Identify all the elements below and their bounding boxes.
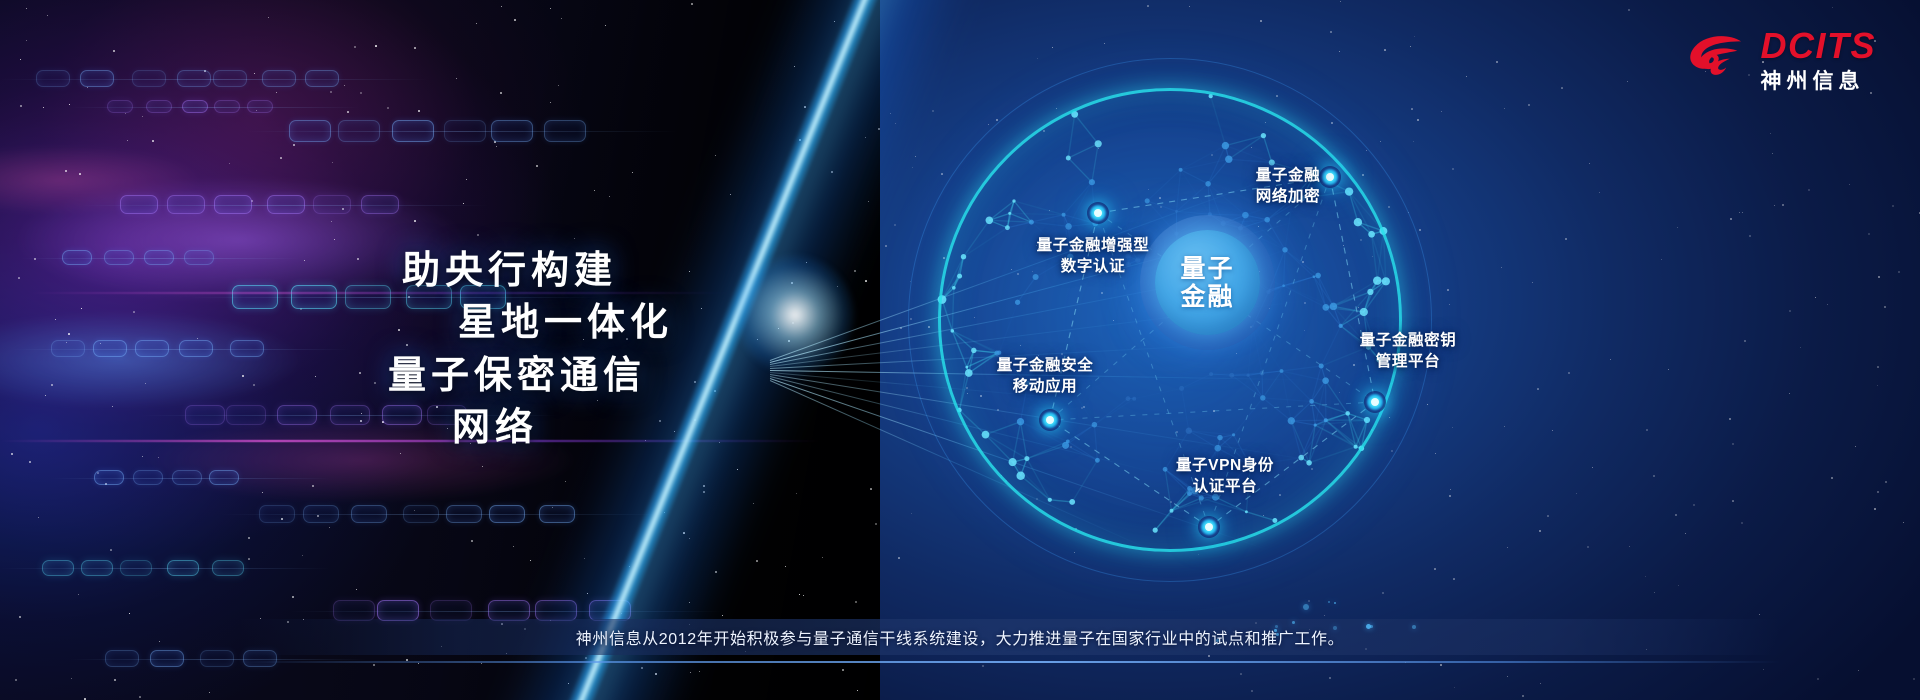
node-digital-cert[interactable] — [1087, 202, 1109, 224]
headline-line-3: 量子保密通信 — [330, 350, 750, 402]
label-vpn-auth-line2: 认证平台 — [1155, 476, 1295, 497]
label-key-management[interactable]: 量子金融密钥 管理平台 — [1338, 330, 1478, 373]
label-key-management-line2: 管理平台 — [1338, 351, 1478, 372]
label-network-crypto-line2: 网络加密 — [1228, 186, 1348, 207]
label-secure-mobile[interactable]: 量子金融安全 移动应用 — [975, 355, 1115, 398]
headline-line-1: 助央行构建 — [330, 245, 750, 297]
caption-bar-underline — [240, 661, 1780, 663]
core-label-line2: 金融 — [1180, 283, 1234, 311]
label-digital-cert-line2: 数字认证 — [1008, 256, 1178, 277]
caption-text: 神州信息从2012年开始积极参与量子通信干线系统建设，大力推进量子在国家行业中的… — [0, 625, 1920, 649]
headline-line-4: 网络 — [330, 402, 750, 454]
label-secure-mobile-line2: 移动应用 — [975, 376, 1115, 397]
logo-text: DCITS 神州信息 — [1761, 28, 1877, 92]
label-vpn-auth-line1: 量子VPN身份 — [1155, 455, 1295, 476]
label-secure-mobile-line1: 量子金融安全 — [975, 355, 1115, 376]
label-key-management-line1: 量子金融密钥 — [1338, 330, 1478, 351]
node-secure-mobile[interactable] — [1039, 409, 1061, 431]
label-digital-cert[interactable]: 量子金融增强型 数字认证 — [1008, 235, 1178, 278]
headline-line-2: 星地一体化 — [330, 297, 750, 349]
label-digital-cert-line1: 量子金融增强型 — [1008, 235, 1178, 256]
logo-english-name: DCITS — [1761, 28, 1877, 64]
core-label-line1: 量子 — [1180, 255, 1234, 283]
logo-chinese-name: 神州信息 — [1761, 71, 1865, 92]
headline: 助央行构建 星地一体化 量子保密通信 网络 — [330, 245, 750, 455]
core-label: 量子 金融 — [1180, 255, 1234, 311]
brand-logo[interactable]: DCITS 神州信息 — [1683, 28, 1877, 92]
dcits-swirl-logo-icon — [1683, 29, 1747, 91]
banner-stage: 量子 金融 量子金融增强型 数字认证 量子金融 网络加密 量子金融密钥 管理平台… — [0, 0, 1920, 700]
node-key-management[interactable] — [1364, 391, 1386, 413]
label-network-crypto[interactable]: 量子金融 网络加密 — [1228, 165, 1348, 208]
node-vpn-auth[interactable] — [1198, 516, 1220, 538]
label-vpn-auth[interactable]: 量子VPN身份 认证平台 — [1155, 455, 1295, 498]
label-network-crypto-line1: 量子金融 — [1228, 165, 1348, 186]
